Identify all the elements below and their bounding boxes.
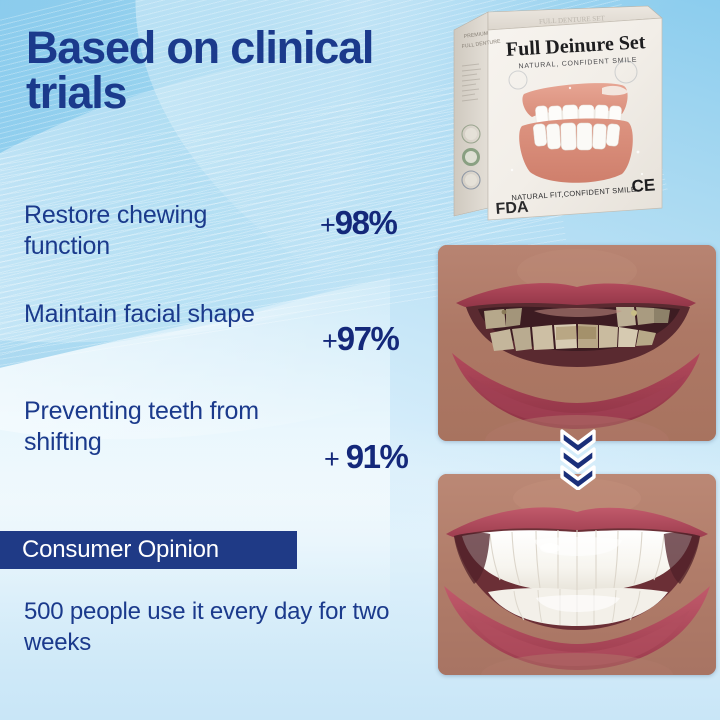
benefit-row: Preventing teeth from shifting +91% [24,386,424,479]
plus-sign: + [324,444,339,474]
benefit-label: Restore chewing function [24,200,292,261]
percent-value: 97% [337,320,399,357]
after-photo [438,474,716,675]
consumer-opinion-text: 500 people use it every day for two week… [24,596,424,658]
plus-sign: + [320,210,335,240]
promo-infographic: Based on clinical trials Restore chewing… [0,0,720,720]
benefit-row: Maintain facial shape +97% [24,293,424,386]
before-photo [438,245,716,441]
benefit-percent: +91% [324,438,407,476]
fda-mark-icon: FDA [495,199,529,218]
benefit-label: Preventing teeth from shifting [24,396,292,457]
plus-sign: + [322,326,337,356]
benefit-label: Maintain facial shape [24,299,292,330]
benefit-row: Restore chewing function +98% [24,200,424,293]
percent-value: 98% [335,204,397,241]
denture-illustration [519,83,633,183]
consumer-opinion-banner: Consumer Opinion [0,531,297,569]
benefit-list: Restore chewing function +98% Maintain f… [24,200,424,479]
triple-chevron-down-icon [556,428,600,490]
product-box-image: FULL DENTURE SET PREMIUM FULL DENTURE [452,2,668,224]
percent-value: 91% [346,438,408,475]
ce-mark-icon: CE [631,175,656,196]
consumer-opinion-label: Consumer Opinion [22,536,219,564]
benefit-percent: +98% [320,204,396,242]
benefit-percent: +97% [322,320,398,358]
page-title: Based on clinical trials [26,26,446,115]
